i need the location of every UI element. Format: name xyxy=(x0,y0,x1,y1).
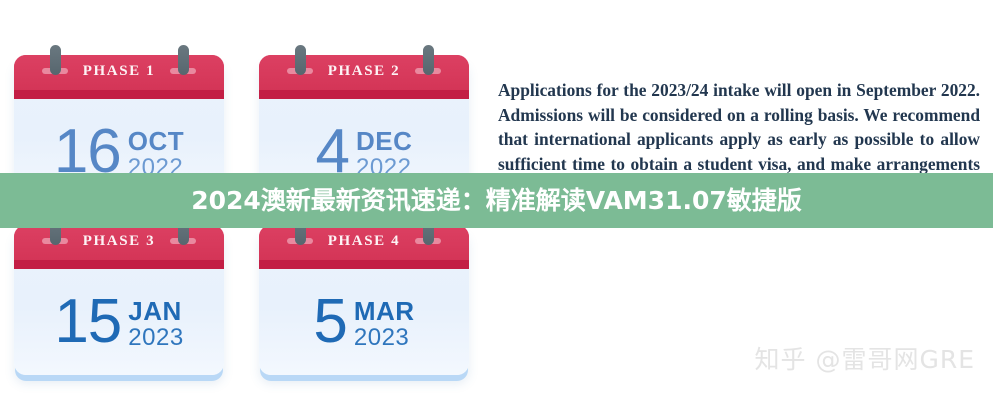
calendar-binder-ring-right-icon xyxy=(178,45,189,75)
calendar-month: DEC xyxy=(356,128,412,155)
calendar-day: 16 xyxy=(54,123,121,180)
calendar-phase-label: PHASE 4 xyxy=(259,233,469,250)
calendar-header-phase-1: PHASE 1 xyxy=(14,55,224,99)
calendar-header-phase-4: PHASE 4 xyxy=(259,225,469,269)
calendar-body-phase-3: 15 JAN 2023 xyxy=(14,269,224,375)
calendar-binder-ring-right-icon xyxy=(423,45,434,75)
calendar-phase-label: PHASE 2 xyxy=(259,63,469,80)
calendar-month-year: JAN 2023 xyxy=(128,294,183,350)
overlay-banner-title: 2024澳新最新资讯速递：精准解读VAM31.07敏捷版 xyxy=(0,181,993,217)
calendar-year: 2023 xyxy=(354,325,409,350)
calendar-month: JAN xyxy=(128,298,182,325)
calendar-month-year: DEC 2022 xyxy=(356,124,412,180)
calendar-month-year: OCT 2022 xyxy=(128,124,184,180)
calendar-header-phase-2: PHASE 2 xyxy=(259,55,469,99)
calendar-day: 4 xyxy=(316,123,349,180)
calendar-month: MAR xyxy=(354,298,415,325)
calendar-day: 15 xyxy=(54,293,121,350)
calendar-month: OCT xyxy=(128,128,184,155)
calendar-phase-label: PHASE 3 xyxy=(14,233,224,250)
screenshot-canvas: PHASE 1 16 OCT 2022 PHASE 2 4 DEC 2022 xyxy=(0,0,993,400)
calendar-binder-ring-left-icon xyxy=(295,45,306,75)
watermark-label: 知乎 @雷哥网GRE xyxy=(755,340,976,376)
calendar-binder-ring-left-icon xyxy=(50,45,61,75)
calendar-header-phase-3: PHASE 3 xyxy=(14,225,224,269)
calendar-year: 2023 xyxy=(128,325,183,350)
calendar-phase-label: PHASE 1 xyxy=(14,63,224,80)
calendar-card-phase-4: PHASE 4 5 MAR 2023 xyxy=(259,225,469,375)
calendar-month-year: MAR 2023 xyxy=(354,294,415,350)
calendar-body-phase-4: 5 MAR 2023 xyxy=(259,269,469,375)
calendar-day: 5 xyxy=(313,293,346,350)
calendar-card-phase-3: PHASE 3 15 JAN 2023 xyxy=(14,225,224,375)
